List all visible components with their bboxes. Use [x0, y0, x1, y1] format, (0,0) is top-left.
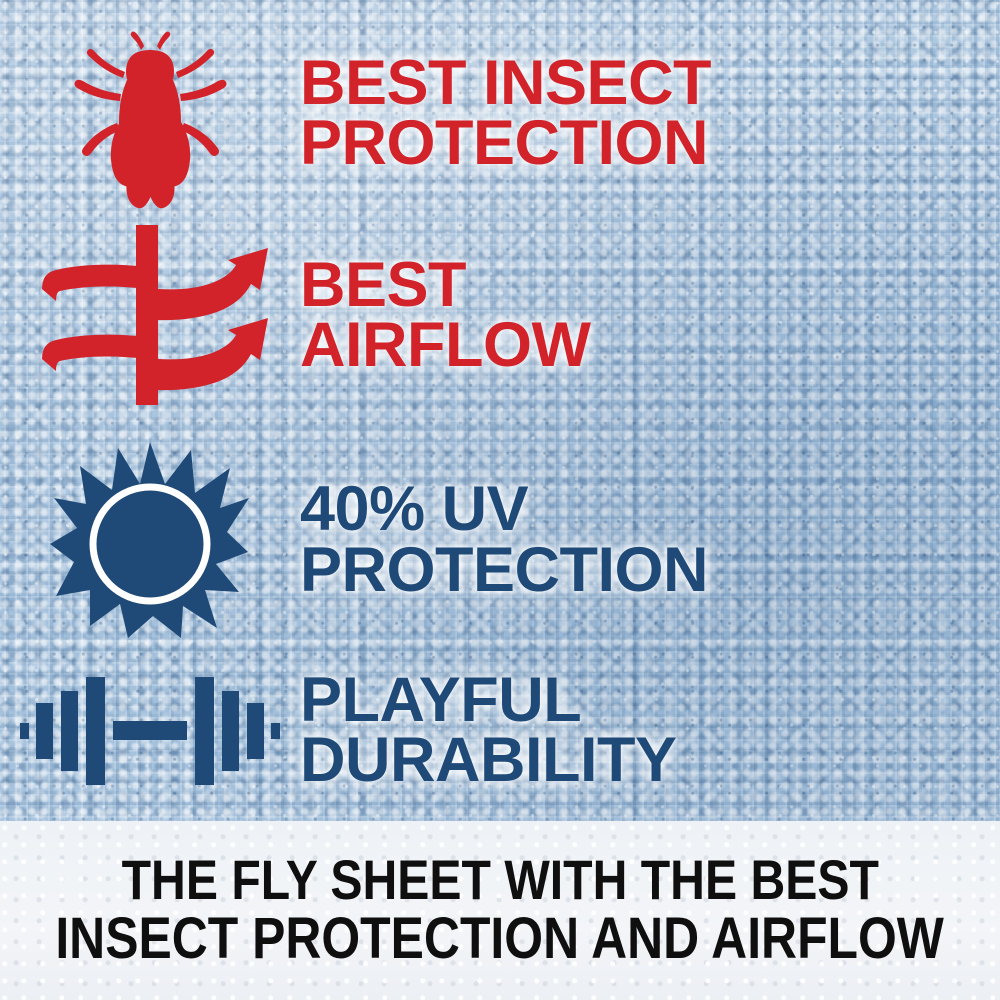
- infographic-poster: BEST INSECT PROTECTION: [0, 0, 1000, 1000]
- feature-list: BEST INSECT PROTECTION: [0, 0, 1000, 821]
- caption-line-1: THE FLY SHEET WITH THE BEST: [121, 851, 878, 909]
- caption-line-2: INSECT PROTECTION AND AIRFLOW: [56, 909, 945, 969]
- feature-row-durability: PLAYFUL DURABILITY: [0, 645, 1000, 815]
- feature-icon-slot: [0, 645, 300, 815]
- caption-bar: THE FLY SHEET WITH THE BEST INSECT PROTE…: [0, 821, 1000, 1000]
- feature-row-insect-protection: BEST INSECT PROTECTION: [0, 18, 1000, 208]
- dumbbell-icon: [20, 665, 280, 795]
- sun-burst-icon: [50, 440, 250, 640]
- feature-icon-slot: [0, 432, 300, 647]
- feature-row-airflow: BEST AIRFLOW: [0, 215, 1000, 415]
- feature-icon-slot: [0, 18, 300, 208]
- airflow-arrows-icon: [40, 225, 260, 405]
- feature-label-uv-protection: 40% UV PROTECTION: [300, 479, 1000, 600]
- fly-icon: [65, 20, 235, 206]
- feature-icon-slot: [0, 215, 300, 415]
- feature-row-uv-protection: 40% UV PROTECTION: [0, 432, 1000, 647]
- feature-label-airflow: BEST AIRFLOW: [300, 255, 1000, 376]
- feature-label-durability: PLAYFUL DURABILITY: [300, 670, 1000, 791]
- feature-label-insect-protection: BEST INSECT PROTECTION: [300, 53, 1000, 174]
